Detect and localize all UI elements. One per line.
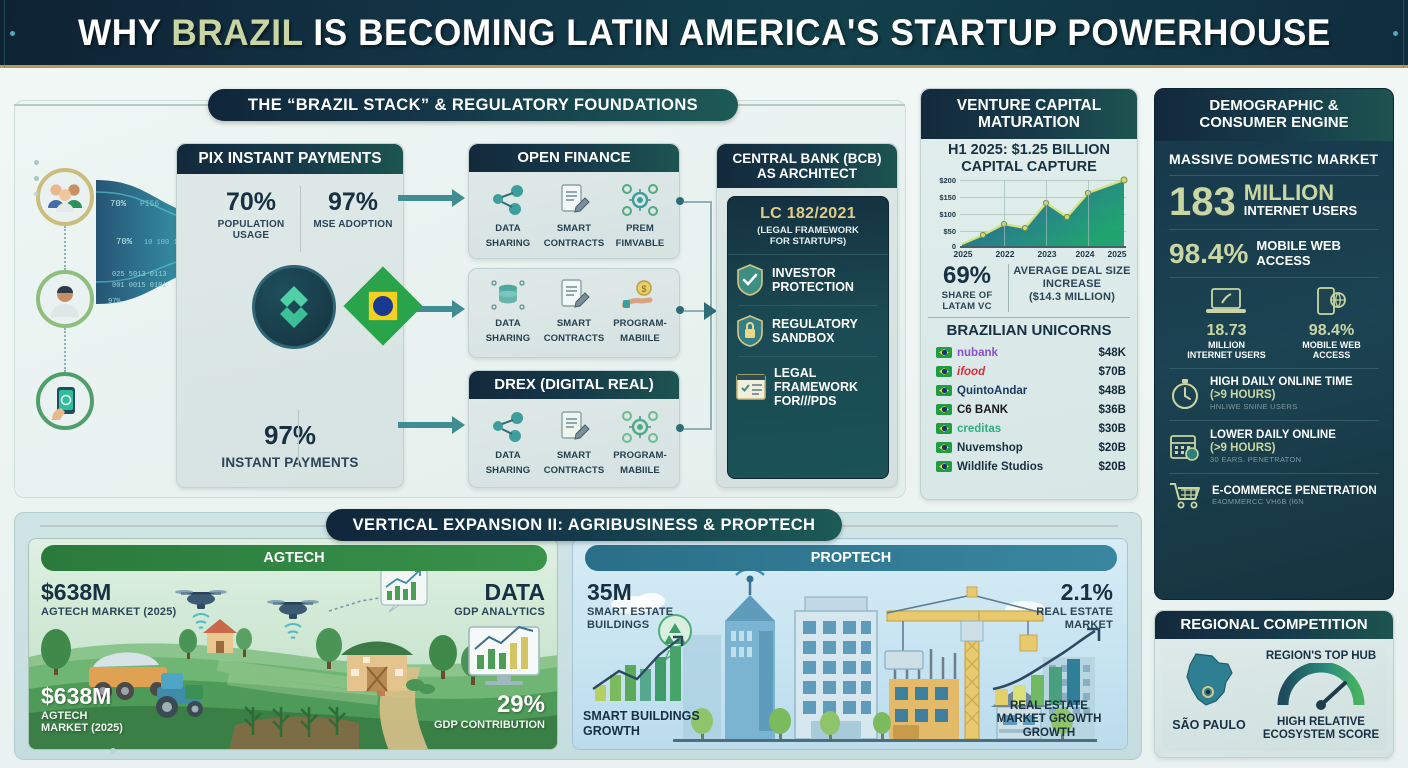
brazil-map-icon: [1178, 651, 1240, 711]
unicorn-value: $48B: [1099, 385, 1127, 397]
gauge-title: REGION'S TOP HUB: [1255, 650, 1387, 662]
open-finance-card: OPEN FINANCE DATA SHARING SMART CONTRACT…: [468, 143, 680, 259]
regional-title: REGIONAL COMPETITION: [1155, 611, 1393, 639]
bcb-title: CENTRAL BANK (BCB) AS ARCHITECT: [717, 144, 897, 188]
middle-features-card: DATA SHARING SMART CONTRACTS $ PROGRAM- …: [468, 268, 680, 358]
bcb-inner-panel: LC 182/2021 (LEGAL FRAMEWORK FOR STARTUP…: [727, 196, 889, 479]
feature-label: PROGRAM-: [607, 319, 672, 330]
brazil-flag-icon: [936, 347, 952, 358]
pix-stat-3: 97% INSTANT PAYMENTS: [205, 420, 375, 470]
feature-smart-contracts: SMART CONTRACTS: [541, 180, 606, 250]
demographic-row-daily-online: LOWER DAILY ONLINE (>9 HOURS) 30 EARS. P…: [1169, 424, 1379, 470]
unicorn-list: nubank$48K ifood$70B QuintoAndar$48B C6 …: [936, 343, 1126, 476]
demographic-panel: DEMOGRAPHIC & CONSUMER ENGINE MASSIVE DO…: [1154, 88, 1394, 600]
agtech-bl-label-b: MARKET (2025): [41, 722, 123, 735]
shield-check-icon: [736, 264, 764, 296]
feature-smart-contracts: SMART CONTRACTS: [541, 407, 606, 477]
proptech-br-label-c: GROWTH: [981, 727, 1117, 741]
pix-icon: [268, 281, 320, 333]
chart-bubble-icon: [381, 567, 427, 612]
agtech-stat-bottomleft: $638M AGTECH MARKET (2025): [41, 683, 123, 735]
unicorn-value: $30B: [1099, 423, 1127, 435]
deco-dot: [110, 748, 116, 754]
demographic-title-line2: CONSUMER ENGINE: [1199, 115, 1348, 132]
feature-label: CONTRACTS: [541, 466, 606, 477]
regional-body: SÃO PAULO REGION'S TOP HUB HIGH RELATIVE…: [1163, 645, 1387, 751]
shopping-cart-icon: [1169, 482, 1203, 510]
pix-stat-1-label-a: POPULATION: [206, 219, 296, 230]
agtech-br-label: GDP CONTRIBUTION: [434, 719, 545, 731]
gauge-label1: HIGH RELATIVE: [1255, 716, 1387, 729]
feature-label: FIMVABLE: [607, 239, 672, 250]
unicorn-value: $20B: [1099, 461, 1127, 473]
title-accent: BRAZIL: [171, 12, 303, 53]
pill-rule-right-2: [838, 525, 1118, 527]
brazil-flag-icon: [936, 423, 952, 434]
row-line1: HIGH DAILY ONLINE TIME: [1210, 376, 1353, 390]
demographic-row-online-time: HIGH DAILY ONLINE TIME (>9 HOURS) HNLIWE…: [1169, 371, 1379, 417]
pix-divider-v2: [298, 410, 299, 466]
unicorn-name: C6 BANK: [957, 404, 1099, 416]
y-tick: $50: [930, 227, 956, 236]
x-tick: 2023: [1030, 249, 1064, 259]
agtech-stat-bottomright: 29% GDP CONTRIBUTION: [434, 691, 545, 731]
feature-smart-contracts: SMART CONTRACTS: [541, 275, 606, 345]
feature-label: SHARING: [475, 466, 540, 477]
y-tick: $200: [930, 176, 956, 185]
brazil-flag-icon: [936, 366, 952, 377]
mobile-pct-label1: MOBILE WEB: [1256, 239, 1341, 253]
agtech-br-value: 29%: [434, 691, 545, 719]
y-tick: $100: [930, 210, 956, 219]
deco-dot: [34, 160, 39, 165]
middle-features: DATA SHARING SMART CONTRACTS $ PROGRAM- …: [469, 269, 679, 351]
bcb-law: LC 182/2021: [734, 205, 882, 223]
agtech-bl-label-a: AGTECH: [41, 710, 123, 723]
feature-label: SMART: [541, 451, 606, 462]
agtech-stat-topleft: $638M AGTECH MARKET (2025): [41, 579, 176, 618]
data-sharing-icon: [475, 407, 540, 447]
bcb-item-line1: LEGAL: [774, 366, 858, 380]
arrowhead-open-finance: [452, 189, 465, 207]
feature-data-sharing: DATA SHARING: [475, 407, 540, 477]
avatar-person: [36, 270, 94, 328]
feature-label: CONTRACTS: [541, 334, 606, 345]
agtech-bl-value: $638M: [41, 683, 123, 710]
feature-label: CONTRACTS: [541, 239, 606, 250]
proptech-stat-topright: 2.1% REAL ESTATE MARKET: [1036, 579, 1113, 632]
connector-dot: [676, 197, 684, 205]
vc-headline-line1: H1 2025: $1.25 BILLION: [928, 142, 1130, 159]
vc-title: VENTURE CAPITAL MATURATION: [921, 89, 1137, 139]
header-deco-right: [1364, 0, 1404, 68]
mini-label1: MOBILE WEB: [1302, 340, 1361, 350]
proptech-tr-label-a: REAL ESTATE: [1036, 606, 1113, 619]
mobile-globe-icon: [1314, 287, 1348, 317]
arrow-to-drex: [398, 422, 454, 428]
regional-gauge-block: REGION'S TOP HUB HIGH RELATIVE ECOSYSTEM…: [1255, 645, 1387, 751]
bcb-item-line2: FRAMEWORK: [774, 380, 858, 394]
avatar-connector: [64, 328, 66, 372]
vc-deal-line3: ($14.3 MILLION): [1012, 291, 1132, 304]
list-item: Nuvemshop$20B: [936, 438, 1126, 457]
pix-stat-1: 70% POPULATION USAGE: [206, 188, 296, 241]
avatar-mobile: [36, 372, 94, 430]
unicorn-value: $70B: [1099, 366, 1127, 378]
hand-phone-icon: [46, 382, 84, 420]
demographic-divider: [1169, 229, 1379, 230]
unicorn-name: QuintoAndar: [957, 385, 1099, 397]
agtech-tl-label: AGTECH MARKET (2025): [41, 606, 176, 618]
mini-value: 98.4%: [1302, 322, 1361, 340]
bcb-item-line1: INVESTOR: [772, 266, 854, 280]
feature-hand-coin: $ PROGRAM- MABIILE: [607, 275, 672, 345]
people-icon: [45, 180, 85, 214]
unicorn-name: Nuvemshop: [957, 442, 1099, 454]
y-tick: $150: [930, 193, 956, 202]
proptech-stat-bottomleft: SMART BUILDINGS GROWTH: [583, 709, 700, 739]
demographic-row-ecommerce: E-COMMERCE PENETRATION E4OMMERCC VH6B (ł…: [1169, 477, 1379, 515]
demographic-divider: [1169, 368, 1379, 369]
pix-stat-2-value: 97%: [306, 188, 400, 217]
proptech-stat-topleft: 35M SMART ESTATE BUILDINGS: [587, 579, 673, 632]
svg-text:001 0015 0101: 001 0015 0101: [112, 282, 167, 290]
deco-dot: [34, 176, 39, 181]
bcb-law-block: LC 182/2021 (LEGAL FRAMEWORK FOR STARTUP…: [728, 197, 888, 255]
connector-line: [684, 428, 712, 430]
database-icon: [475, 275, 540, 315]
vc-headline: H1 2025: $1.25 BILLION CAPITAL CAPTURE: [928, 142, 1130, 177]
list-item: nubank$48K: [936, 343, 1126, 362]
programmable-money-icon: [607, 180, 672, 220]
laptop-icon: [1205, 287, 1247, 317]
svg-text:025 5013 0113: 025 5013 0113: [112, 271, 167, 279]
unicorn-name: Wildlife Studios: [957, 461, 1099, 473]
row-line3: E4OMMERCC VH6B (ł6N: [1212, 498, 1377, 507]
regional-map-block: SÃO PAULO: [1163, 645, 1255, 751]
feature-label: PROGRAM-: [607, 451, 672, 462]
row-line2: (>9 HOURS): [1210, 389, 1353, 403]
proptech-title: PROPTECH: [585, 545, 1117, 571]
vc-hr: [928, 317, 1130, 318]
pix-stat-3-label: INSTANT PAYMENTS: [205, 455, 375, 470]
shield-lock-icon: [736, 315, 764, 347]
vc-title-line1: VENTURE CAPITAL: [957, 97, 1101, 114]
row-line3: 30 EARS. PENETRATON: [1210, 456, 1336, 465]
infographic-root: WHY BRAZIL IS BECOMING LATIN AMERICA'S S…: [0, 0, 1408, 768]
pix-divider-v: [300, 186, 301, 252]
proptech-br-label-a: REAL ESTATE: [981, 700, 1117, 714]
proptech-bl-label-a: SMART BUILDINGS: [583, 709, 700, 724]
document-check-icon: [736, 373, 766, 401]
feature-database: DATA SHARING: [475, 275, 540, 345]
hero-number: 183: [1169, 184, 1236, 221]
feature-label: DATA: [475, 224, 540, 235]
bcb-item-investor-protection: INVESTOR PROTECTION: [728, 255, 888, 305]
growth-chart-left: [593, 637, 682, 701]
person-icon: [45, 281, 85, 317]
agtech-scene: AGTECH $638M AGTECH MARKET (2025) DATA G…: [28, 538, 558, 750]
arrowhead-drex: [452, 416, 465, 434]
smart-contract-icon: [541, 275, 606, 315]
open-finance-features: DATA SHARING SMART CONTRACTS PREM FIMVAB…: [469, 172, 679, 256]
proptech-tr-value: 2.1%: [1036, 579, 1113, 606]
demographic-divider: [1169, 277, 1379, 278]
data-sharing-icon: [475, 180, 540, 220]
vline: [1004, 180, 1005, 246]
demographic-body: MASSIVE DOMESTIC MARKET 183 MILLION INTE…: [1155, 141, 1393, 515]
bcb-item-line2: SANDBOX: [772, 331, 858, 345]
pix-stat-2-label: MSE ADOPTION: [306, 219, 400, 230]
calendar-clock-icon: [1169, 432, 1201, 462]
arrow-to-open-finance: [398, 195, 454, 201]
feature-data-sharing: DATA SHARING: [475, 180, 540, 250]
proptech-tr-label-b: MARKET: [1036, 619, 1113, 632]
arrowhead-middle: [452, 300, 465, 318]
feature-programmable: PROGRAM- MABIILE: [607, 407, 672, 477]
bcb-item-line2: PROTECTION: [772, 280, 854, 294]
drex-title: DREX (DIGITAL REAL): [469, 371, 679, 399]
mini-label2: ACCESS: [1302, 350, 1361, 360]
agtech-tr-label: GDP ANALYTICS: [454, 606, 545, 618]
feature-label: PREM: [607, 224, 672, 235]
demographic-title: DEMOGRAPHIC & CONSUMER ENGINE: [1155, 89, 1393, 141]
vc-deal-line2: INCREASE: [1012, 278, 1132, 291]
list-item: Wildlife Studios$20B: [936, 457, 1126, 476]
feature-label: SHARING: [475, 239, 540, 250]
feature-label: SHARING: [475, 334, 540, 345]
unicorn-value: $36B: [1099, 404, 1127, 416]
row-line2: (>9 HOURS): [1210, 442, 1336, 456]
row-line1: LOWER DAILY ONLINE: [1210, 429, 1336, 443]
section-title-vertical-expansion: VERTICAL EXPANSION II: AGRIBUSINESS & PR…: [326, 509, 842, 541]
feature-programmable: PREM FIMVABLE: [607, 180, 672, 250]
brazil-flag-icon: [936, 442, 952, 453]
smart-contract-icon: [541, 180, 606, 220]
svg-text:70%: 70%: [110, 199, 127, 209]
regional-map-label: SÃO PAULO: [1163, 718, 1255, 732]
vline: [1088, 180, 1089, 246]
row-line3: HNLIWE SNINE USERS: [1210, 403, 1353, 412]
feature-label: MABIILE: [607, 466, 672, 477]
connector-dot: [676, 306, 684, 314]
smart-contract-icon: [541, 407, 606, 447]
connector-line: [684, 201, 712, 203]
pix-stat-2: 97% MSE ADOPTION: [306, 188, 400, 230]
pix-stat-1-value: 70%: [206, 188, 296, 217]
demographic-title-line1: DEMOGRAPHIC &: [1209, 98, 1338, 115]
feature-label: DATA: [475, 451, 540, 462]
mini-value: 18.73: [1187, 322, 1266, 340]
list-item: ifood$70B: [936, 362, 1126, 381]
mini-stat-mobile: 98.4% MOBILE WEB ACCESS: [1302, 287, 1361, 360]
connector-line: [710, 201, 712, 311]
mobile-pct: 98.4%: [1169, 240, 1248, 268]
connector-dot: [676, 424, 684, 432]
header-dot: [10, 31, 15, 36]
x-tick: 2022: [988, 249, 1022, 259]
gauge-icon: [1275, 663, 1367, 711]
avatar-group: [36, 168, 94, 226]
svg-text:97%: 97%: [108, 298, 121, 306]
vc-stat-pct: 69%: [928, 262, 1006, 290]
bcb-title-line2: AS ARCHITECT: [757, 166, 857, 181]
house-icon: [203, 619, 237, 653]
x-tick: 2025: [946, 249, 980, 259]
demographic-divider: [1169, 420, 1379, 421]
feature-label: SMART: [541, 224, 606, 235]
open-finance-title: OPEN FINANCE: [469, 144, 679, 172]
section-title-brazil-stack: THE “BRAZIL STACK” & REGULATORY FOUNDATI…: [208, 89, 738, 121]
pill-rule-left-2: [40, 525, 330, 527]
pix-logo: [252, 265, 336, 349]
brazil-flag-icon: [936, 385, 952, 396]
demographic-hero: 183 MILLION INTERNET USERS: [1169, 182, 1379, 220]
mini-label1: MILLION: [1187, 340, 1266, 350]
mobile-pct-label2: ACCESS: [1256, 254, 1341, 268]
feature-label: SMART: [541, 319, 606, 330]
vc-title-line2: MATURATION: [978, 114, 1080, 131]
header-dot: [1393, 31, 1398, 36]
proptech-br-label-b: MARKET GROWTH: [981, 713, 1117, 727]
svg-text:PI56: PI56: [140, 200, 159, 209]
vc-stat-share: 69% SHARE OF LATAM VC: [928, 262, 1006, 312]
bcb-item-legal-framework: LEGAL FRAMEWORK FOR///PDS: [728, 357, 888, 417]
agtech-stat-topright: DATA GDP ANALYTICS: [454, 579, 545, 618]
demographic-divider: [1169, 175, 1379, 176]
page-title: WHY BRAZIL IS BECOMING LATIN AMERICA'S S…: [78, 12, 1331, 54]
unicorn-name: nubank: [957, 347, 1099, 359]
drex-card: DREX (DIGITAL REAL) DATA SHARING SMART C…: [468, 370, 680, 488]
gauge-label2: ECOSYSTEM SCORE: [1255, 729, 1387, 742]
bcb-card: CENTRAL BANK (BCB) AS ARCHITECT LC 182/2…: [716, 143, 898, 488]
brazil-flag-icon: [936, 461, 952, 472]
demographic-mobile-stat: 98.4% MOBILE WEB ACCESS: [1169, 239, 1379, 268]
proptech-tl-value: 35M: [587, 579, 673, 606]
bcb-law-sub-1: (LEGAL FRAMEWORK: [734, 225, 882, 236]
vc-chart: $200 $150 $100 $50 0 2025 20: [930, 176, 1130, 262]
bcb-title-line1: CENTRAL BANK (BCB): [733, 151, 882, 166]
barn-icon: [341, 642, 413, 692]
regional-competition-panel: REGIONAL COMPETITION SÃO PAULO REGION'S …: [1154, 610, 1394, 758]
title-post: IS BECOMING LATIN AMERICA'S STARTUP POWE…: [303, 12, 1331, 53]
pix-stat-3-value: 97%: [205, 420, 375, 451]
bcb-law-sub-2: FOR STARTUPS): [734, 236, 882, 247]
hand-coin-icon: $: [607, 275, 672, 315]
row-line1: E-COMMERCE PENETRATION: [1212, 485, 1377, 499]
unicorn-value: $20B: [1099, 442, 1127, 454]
feature-label: MABIILE: [607, 334, 672, 345]
vc-area-chart: [960, 176, 1128, 248]
vc-headline-line2: CAPITAL CAPTURE: [928, 159, 1130, 176]
unicorn-name: ifood: [957, 366, 1099, 378]
bcb-item-regulatory-sandbox: REGULATORY SANDBOX: [728, 306, 888, 356]
vc-deal-line1: AVERAGE DEAL SIZE: [1012, 265, 1132, 278]
hero-sub: INTERNET USERS: [1244, 204, 1357, 218]
demographic-mini-stats: 18.73 MILLION INTERNET USERS 98.4% MOBIL…: [1169, 287, 1379, 360]
svg-text:70%: 70%: [116, 237, 133, 247]
x-tick: 2024: [1068, 249, 1102, 259]
clock-icon: [1169, 378, 1201, 410]
agtech-tl-value: $638M: [41, 579, 176, 606]
drone-icon: [267, 600, 319, 638]
vline: [1046, 180, 1047, 246]
avatar-connector: [64, 226, 66, 270]
bcb-item-line3: FOR///PDS: [774, 394, 858, 408]
pix-stat-1-label-b: USAGE: [206, 230, 296, 241]
deco-dot: [34, 192, 38, 196]
proptech-tl-label-b: BUILDINGS: [587, 619, 673, 632]
agtech-tr-value: DATA: [454, 579, 545, 606]
vc-divider: [1008, 264, 1009, 312]
vc-stat-deal-size: AVERAGE DEAL SIZE INCREASE ($14.3 MILLIO…: [1012, 265, 1132, 304]
proptech-tl-label-a: SMART ESTATE: [587, 606, 673, 619]
list-item: QuintoAndar$48B: [936, 381, 1126, 400]
mini-stat-laptop: 18.73 MILLION INTERNET USERS: [1187, 287, 1266, 360]
unicorn-value: $48K: [1099, 347, 1127, 359]
programmable-money-icon: [607, 407, 672, 447]
vc-stat-pct-label1: SHARE OF: [928, 290, 1006, 301]
feature-label: DATA: [475, 319, 540, 330]
title-pre: WHY: [78, 12, 171, 53]
proptech-scene: PROPTECH 35M SMART ESTATE BUILDINGS 2.1%…: [572, 538, 1128, 750]
svg-text:$: $: [641, 284, 646, 294]
vc-stat-pct-label2: LATAM VC: [928, 301, 1006, 312]
growth-chart-right: [989, 623, 1119, 711]
list-item: C6 BANK$36B: [936, 400, 1126, 419]
page-header: WHY BRAZIL IS BECOMING LATIN AMERICA'S S…: [0, 0, 1408, 68]
agtech-title: AGTECH: [41, 545, 547, 571]
vc-unicorns-title: BRAZILIAN UNICORNS: [928, 322, 1130, 339]
hero-word: MILLION: [1244, 182, 1357, 204]
pix-title: PIX INSTANT PAYMENTS: [177, 144, 403, 174]
proptech-bl-label-b: GROWTH: [583, 724, 700, 739]
list-item: creditas$30B: [936, 419, 1126, 438]
x-tick: 2025: [1102, 249, 1132, 259]
demographic-subtitle: MASSIVE DOMESTIC MARKET: [1169, 151, 1379, 167]
proptech-stat-bottomright: REAL ESTATE MARKET GROWTH GROWTH: [981, 700, 1117, 741]
brazil-flag-icon: [936, 404, 952, 415]
mini-label2: INTERNET USERS: [1187, 350, 1266, 360]
drex-features: DATA SHARING SMART CONTRACTS PROGRAM- MA…: [469, 399, 679, 483]
demographic-divider: [1169, 473, 1379, 474]
connector-line: [710, 311, 712, 428]
bcb-item-line1: REGULATORY: [772, 317, 858, 331]
unicorn-name: creditas: [957, 423, 1099, 435]
